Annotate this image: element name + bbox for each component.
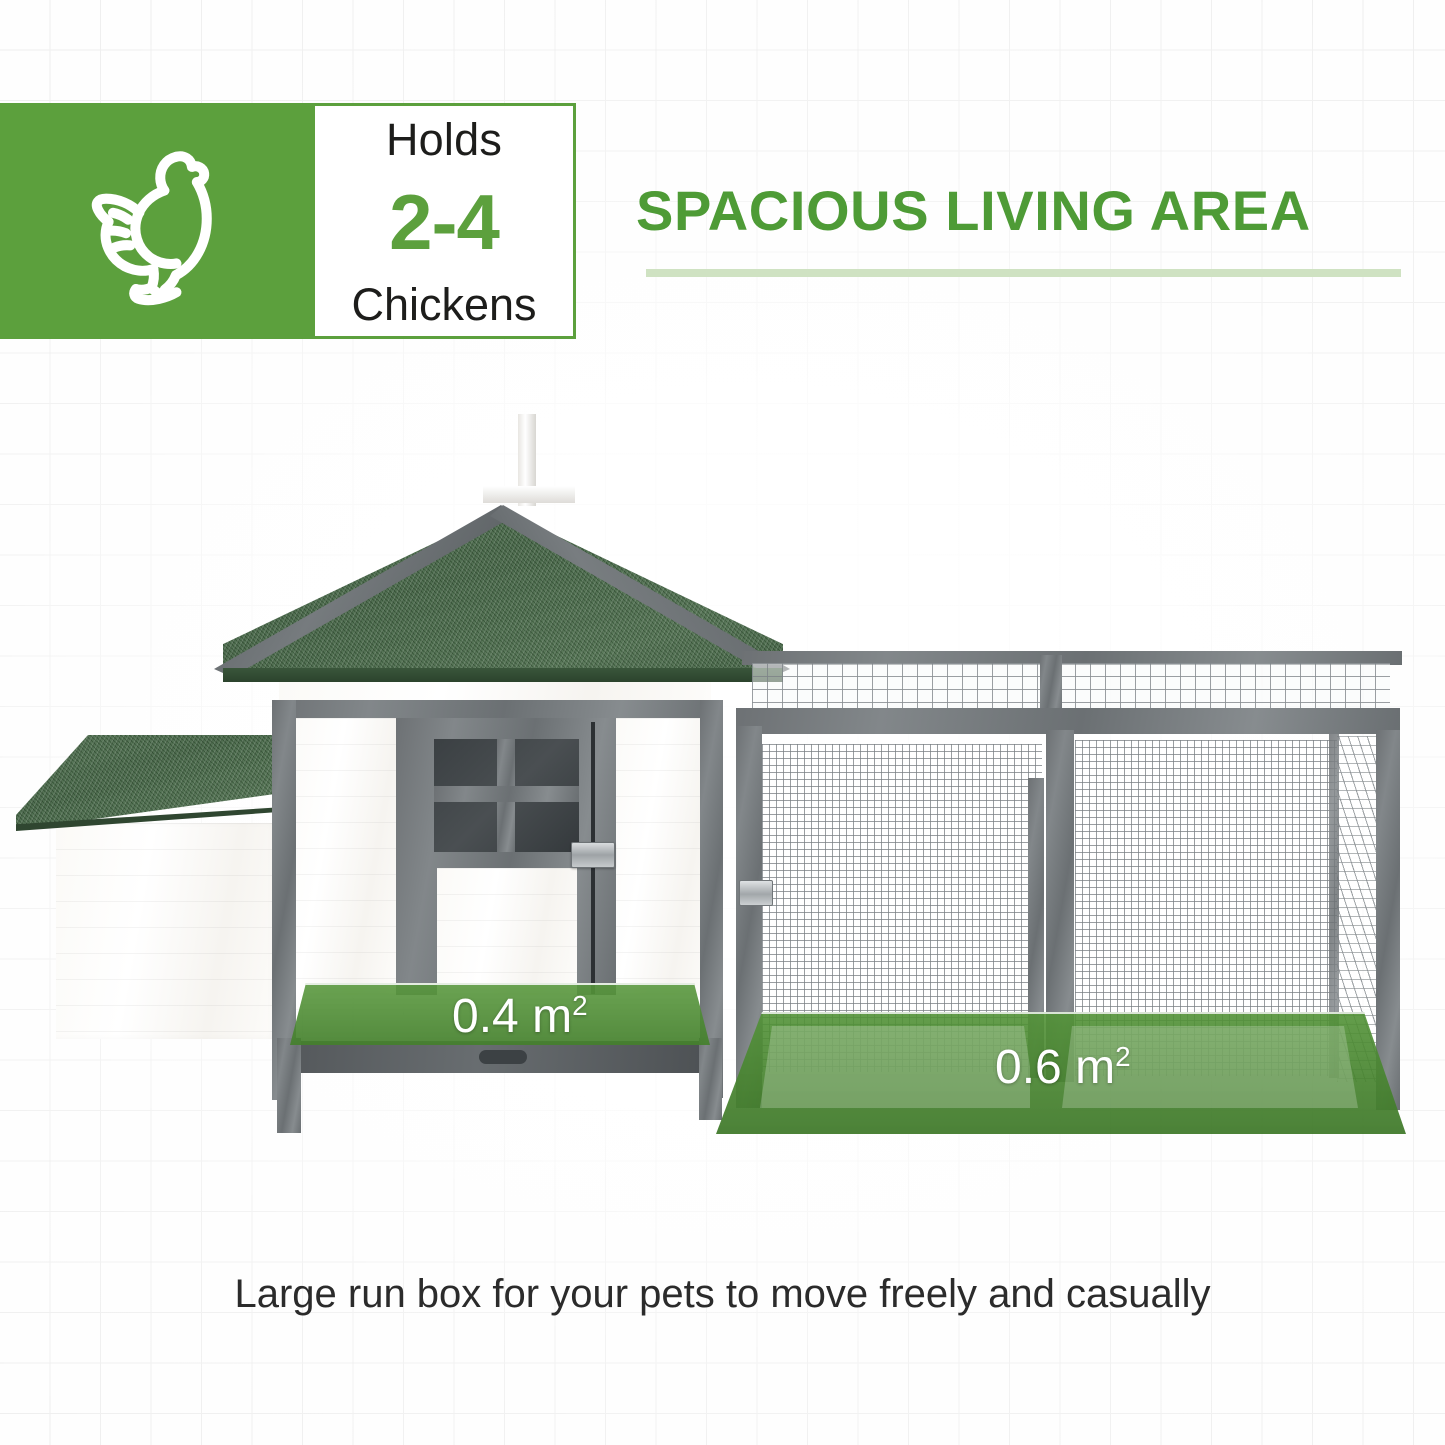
badge-unit-label: Chickens — [351, 282, 536, 327]
area-coop-value: 0.4 — [452, 990, 519, 1043]
headline-underline — [646, 269, 1401, 277]
coop-siding-right — [612, 718, 710, 995]
run-post-right — [1376, 730, 1400, 1110]
coop-roof-gable — [223, 510, 783, 682]
page-title: SPACIOUS LIVING AREA — [636, 183, 1311, 239]
chicken-icon — [68, 128, 254, 314]
coop-leg-right — [699, 1038, 722, 1120]
coop-siding-left — [286, 718, 396, 995]
tray-handle-icon[interactable] — [479, 1050, 527, 1064]
area-run-unit: m — [1075, 1041, 1115, 1094]
roof-finial-crossbar — [483, 486, 575, 503]
nesting-box-body — [56, 823, 278, 1039]
area-coop-exponent: 2 — [572, 990, 587, 1021]
coop-leg-left — [277, 1038, 301, 1133]
capacity-badge: Holds 2-4 Chickens — [0, 103, 576, 339]
window-mullion-horizontal — [434, 786, 579, 802]
run-door-latch-icon[interactable] — [739, 880, 773, 906]
badge-text-panel: Holds 2-4 Chickens — [315, 103, 576, 339]
roof-eave-shadow — [223, 668, 783, 682]
run-floor-panel-left — [760, 1026, 1030, 1108]
coop-door-panel-lower — [437, 868, 577, 995]
door-latch-icon[interactable] — [571, 842, 615, 868]
badge-count: 2-4 — [389, 183, 499, 261]
badge-holds-label: Holds — [386, 117, 502, 162]
area-run-exponent: 2 — [1115, 1041, 1130, 1072]
badge-icon-panel — [0, 103, 315, 339]
area-label-coop: 0.4 m2 — [452, 989, 588, 1044]
area-label-run: 0.6 m2 — [995, 1040, 1131, 1095]
area-run-value: 0.6 — [995, 1041, 1062, 1094]
run-roof-center-rail — [1040, 655, 1062, 713]
feature-caption: Large run box for your pets to move free… — [0, 1272, 1445, 1317]
run-roof-mesh-right — [1060, 663, 1390, 711]
run-roof-mesh-left — [752, 663, 1042, 711]
area-coop-unit: m — [532, 990, 572, 1043]
